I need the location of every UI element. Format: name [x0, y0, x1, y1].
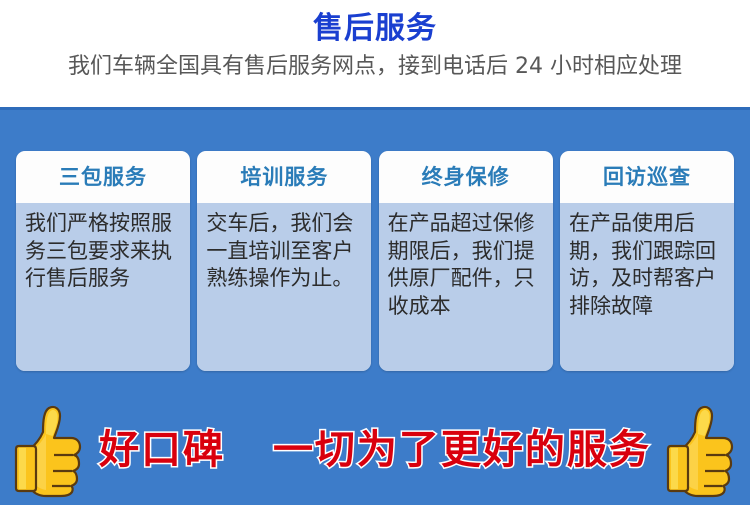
page-subtitle: 我们车辆全国具有售后服务网点，接到电话后 24 小时相应处理 [0, 45, 750, 80]
slogan-text: 好口碑 一切为了更好的服务 [99, 430, 651, 470]
service-card-description: 在产品使用后期，我们跟踪回访，及时帮客户排除故障 [569, 210, 725, 321]
service-card-header: 三包服务 [16, 151, 190, 203]
service-card-follow-up-visit[interactable]: 回访巡查 在产品使用后期，我们跟踪回访，及时帮客户排除故障 [560, 151, 734, 371]
service-cards-list: 三包服务 我们严格按照服务三包要求来执行售后服务 培训服务 交车后，我们会一直培… [16, 151, 734, 371]
thumbs-up-icon [665, 402, 737, 498]
service-card-three-guarantees[interactable]: 三包服务 我们严格按照服务三包要求来执行售后服务 [16, 151, 190, 371]
slogan-text-left: 好口碑 [99, 427, 225, 473]
service-cards-panel: 三包服务 我们严格按照服务三包要求来执行售后服务 培训服务 交车后，我们会一直培… [0, 107, 750, 395]
service-card-body: 交车后，我们会一直培训至客户熟练操作为止。 [197, 203, 371, 371]
promo-banner-page: 售后服务 我们车辆全国具有售后服务网点，接到电话后 24 小时相应处理 三包服务… [0, 0, 750, 505]
slogan-banner: 好口碑 一切为了更好的服务 [0, 395, 750, 505]
service-card-body: 在产品使用后期，我们跟踪回访，及时帮客户排除故障 [560, 203, 734, 371]
service-card-lifetime-warranty[interactable]: 终身保修 在产品超过保修期限后，我们提供原厂配件，只收成本 [379, 151, 553, 371]
service-card-description: 我们严格按照服务三包要求来执行售后服务 [25, 210, 181, 293]
service-card-header: 培训服务 [197, 151, 371, 203]
slogan-text-right: 一切为了更好的服务 [273, 427, 651, 473]
service-card-description: 交车后，我们会一直培训至客户熟练操作为止。 [206, 210, 362, 293]
service-card-training[interactable]: 培训服务 交车后，我们会一直培训至客户熟练操作为止。 [197, 151, 371, 371]
page-title: 售后服务 [0, 0, 750, 45]
service-card-title: 终身保修 [422, 167, 510, 188]
service-card-title: 培训服务 [240, 167, 328, 188]
service-card-description: 在产品超过保修期限后，我们提供原厂配件，只收成本 [388, 210, 544, 321]
service-card-body: 在产品超过保修期限后，我们提供原厂配件，只收成本 [379, 203, 553, 371]
thumbs-up-icon [13, 402, 85, 498]
service-card-body: 我们严格按照服务三包要求来执行售后服务 [16, 203, 190, 371]
service-card-header: 终身保修 [379, 151, 553, 203]
service-card-title: 回访巡查 [603, 167, 691, 188]
service-card-title: 三包服务 [59, 167, 147, 188]
service-card-header: 回访巡查 [560, 151, 734, 203]
page-header: 售后服务 我们车辆全国具有售后服务网点，接到电话后 24 小时相应处理 [0, 0, 750, 107]
